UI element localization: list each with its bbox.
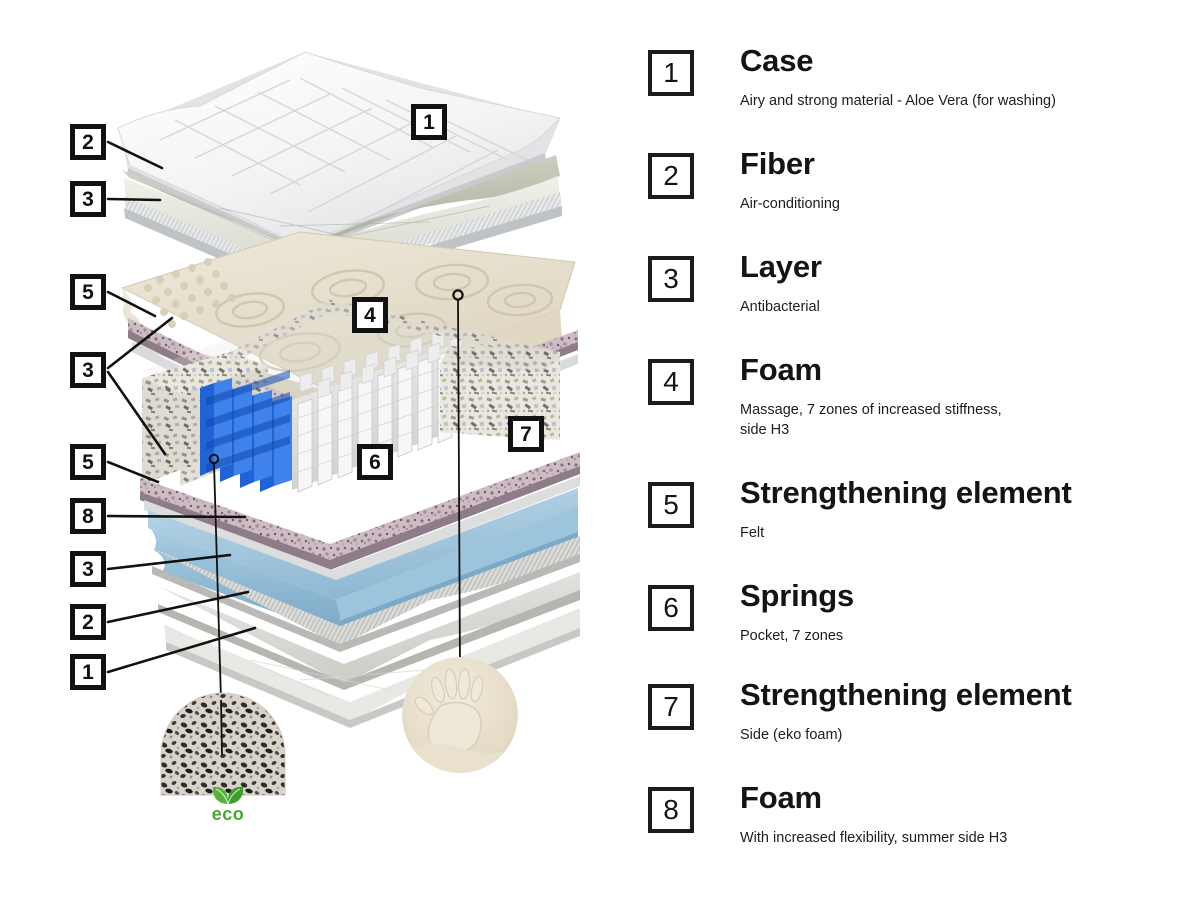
legend-panel: 1 Case Airy and strong material - Aloe V… bbox=[620, 0, 1200, 899]
eco-leaves-icon bbox=[196, 782, 260, 806]
eco-label: eco bbox=[196, 804, 260, 825]
legend-title-1: Case bbox=[740, 43, 813, 79]
callout-2-bot[interactable]: 2 bbox=[70, 604, 106, 640]
callout-8-foam[interactable]: 8 bbox=[70, 498, 106, 534]
massage-foam-handprint-detail bbox=[402, 657, 518, 775]
legend-desc-5: Felt bbox=[740, 523, 764, 543]
legend-title-2: Fiber bbox=[740, 146, 815, 182]
eco-badge: eco bbox=[196, 782, 260, 826]
legend-number-box-6: 6 bbox=[648, 585, 694, 631]
callout-1-bot[interactable]: 1 bbox=[70, 654, 106, 690]
legend-title-4: Foam bbox=[740, 352, 822, 388]
legend-number-box-1: 1 bbox=[648, 50, 694, 96]
callout-2-top[interactable]: 2 bbox=[70, 124, 106, 160]
callout-4-foam[interactable]: 4 bbox=[352, 297, 388, 333]
legend-number-box-2: 2 bbox=[648, 153, 694, 199]
callout-5-felt-b[interactable]: 5 bbox=[70, 444, 106, 480]
callout-1-cover[interactable]: 1 bbox=[411, 104, 447, 140]
callout-7-side[interactable]: 7 bbox=[508, 416, 544, 452]
callout-6-spring[interactable]: 6 bbox=[357, 444, 393, 480]
legend-desc-1: Airy and strong material - Aloe Vera (fo… bbox=[740, 91, 1056, 111]
callout-3-mid[interactable]: 3 bbox=[70, 352, 106, 388]
legend-desc-6: Pocket, 7 zones bbox=[740, 626, 843, 646]
mattress-cross-section-diagram: 2 3 1 5 3 4 5 7 6 8 3 2 1 eco bbox=[0, 0, 620, 899]
legend-number-box-8: 8 bbox=[648, 787, 694, 833]
callout-3-top[interactable]: 3 bbox=[70, 181, 106, 217]
legend-title-6: Springs bbox=[740, 578, 854, 614]
legend-title-8: Foam bbox=[740, 780, 822, 816]
legend-desc-4: Massage, 7 zones of increased stiffness,… bbox=[740, 400, 1002, 440]
callout-3-bot[interactable]: 3 bbox=[70, 551, 106, 587]
legend-desc-3: Antibacterial bbox=[740, 297, 820, 317]
legend-number-box-3: 3 bbox=[648, 256, 694, 302]
legend-title-3: Layer bbox=[740, 249, 822, 285]
legend-desc-7: Side (eko foam) bbox=[740, 725, 842, 745]
legend-desc-8: With increased flexibility, summer side … bbox=[740, 828, 1007, 848]
legend-number-box-7: 7 bbox=[648, 684, 694, 730]
legend-title-7: Strengthening element bbox=[740, 677, 1072, 713]
legend-desc-2: Air-conditioning bbox=[740, 194, 840, 214]
callout-5-felt-a[interactable]: 5 bbox=[70, 274, 106, 310]
legend-title-5: Strengthening element bbox=[740, 475, 1072, 511]
legend-number-box-4: 4 bbox=[648, 359, 694, 405]
legend-number-box-5: 5 bbox=[648, 482, 694, 528]
